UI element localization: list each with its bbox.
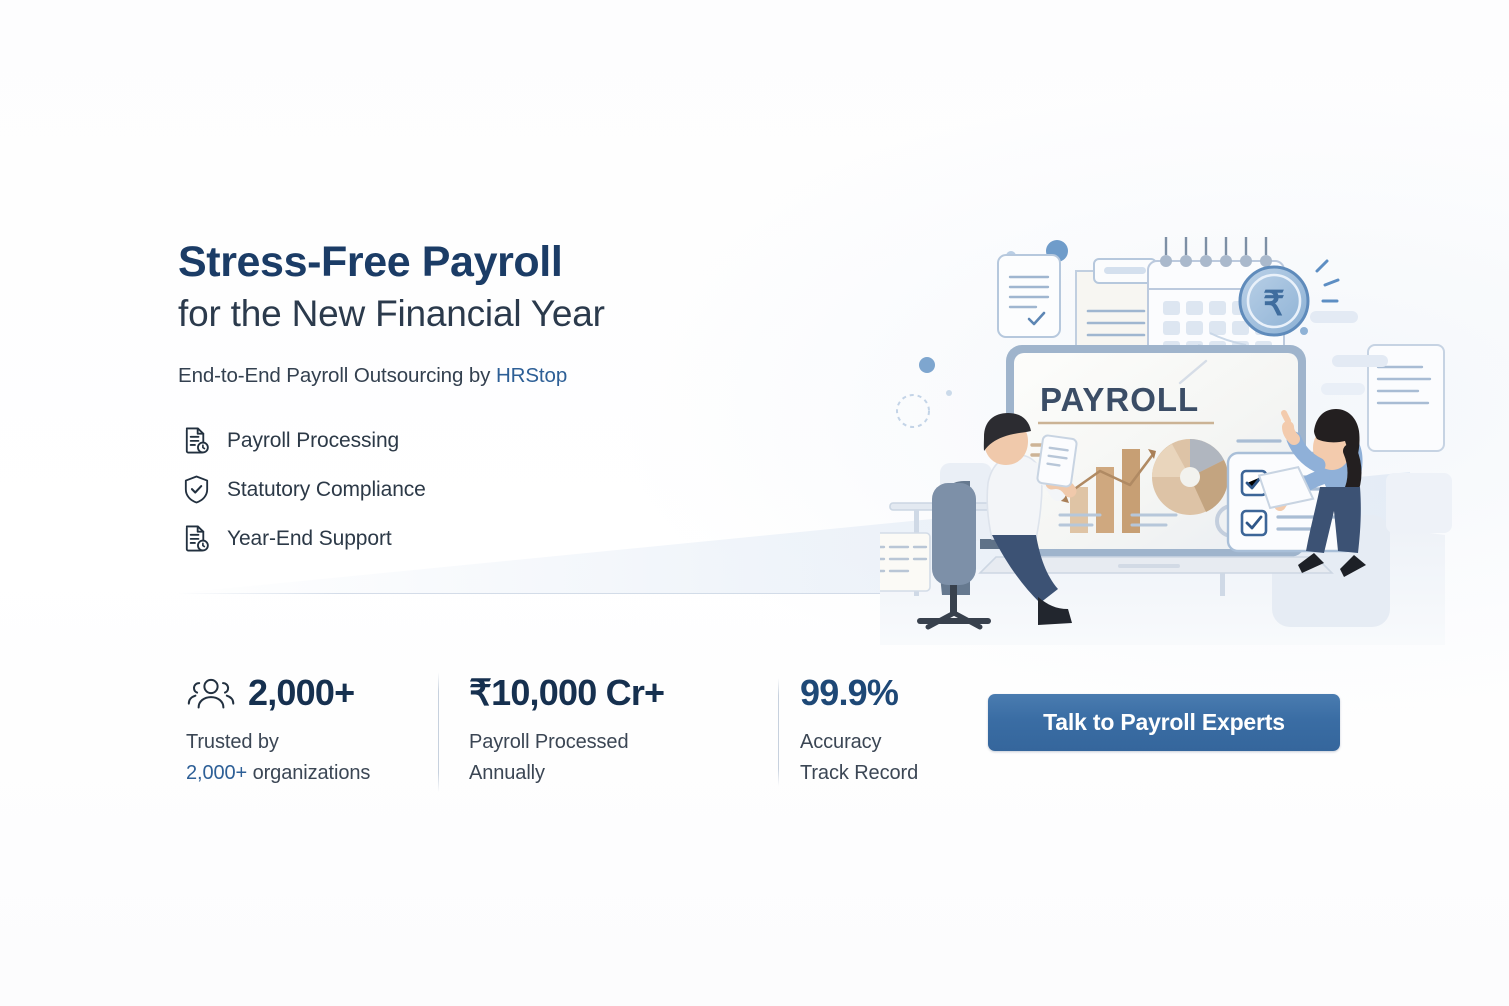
stat-label: Accuracy Track Record — [800, 727, 1020, 789]
hero-tagline: End-to-End Payroll Outsourcing by HRStop — [178, 364, 878, 388]
stat-value-row: 2,000+ — [186, 668, 438, 718]
document-clock-icon — [180, 522, 213, 555]
stat-trusted-by: 2,000+ Trusted by 2,000+ organizations — [186, 668, 438, 789]
document-clock-icon — [180, 424, 213, 457]
stats-row: 2,000+ Trusted by 2,000+ organizations ₹… — [186, 668, 1020, 792]
stat-label-highlight: 2,000+ — [186, 762, 247, 784]
hero-copy: Stress-Free Payroll for the New Financia… — [178, 238, 878, 388]
pie-chart — [1152, 439, 1228, 515]
document-check-card — [998, 255, 1060, 337]
coin-motion-lines — [1317, 261, 1338, 301]
feature-item-statutory-compliance: Statutory Compliance — [180, 473, 426, 506]
stat-value: 2,000+ — [248, 675, 354, 711]
stat-value: ₹10,000 Cr+ — [469, 675, 664, 711]
paper-stack — [880, 533, 930, 591]
calendar-spiral — [1166, 237, 1266, 255]
stat-value: 99.9% — [800, 675, 898, 711]
stat-label: Payroll Processed Annually — [469, 727, 778, 789]
stat-payroll-processed: ₹10,000 Cr+ Payroll Processed Annually — [439, 668, 778, 789]
chair-post — [950, 585, 957, 613]
page-title: Stress-Free Payroll — [178, 238, 878, 286]
feature-label: Year-End Support — [227, 527, 392, 551]
stat-label-line2: Annually — [469, 762, 545, 784]
shield-check-icon — [180, 473, 213, 506]
users-group-icon — [186, 675, 236, 711]
payroll-illustration: ₹ PAYROLL — [880, 215, 1460, 645]
feature-list: Payroll Processing Statutory Compliance — [180, 424, 426, 555]
decor-dot — [946, 390, 952, 396]
brand-name: HRStop — [496, 364, 567, 387]
decor-dot — [919, 357, 935, 373]
stat-label-line2: organizations — [247, 762, 370, 784]
talk-to-payroll-experts-button[interactable]: Talk to Payroll Experts — [988, 694, 1340, 751]
stat-label-line1: Accuracy — [800, 731, 881, 753]
feature-label: Payroll Processing — [227, 429, 399, 453]
feature-item-year-end-support: Year-End Support — [180, 522, 426, 555]
stat-value-row: ₹10,000 Cr+ — [469, 668, 778, 718]
decor-dot — [1300, 327, 1308, 335]
svg-text:₹: ₹ — [1263, 285, 1285, 323]
stat-label-line1: Payroll Processed — [469, 731, 628, 753]
tablet — [1037, 435, 1077, 487]
stat-accuracy: 99.9% Accuracy Track Record — [779, 668, 1020, 789]
stat-value-row: 99.9% — [800, 668, 1020, 718]
decor-ring — [897, 395, 929, 427]
stat-label-line2: Track Record — [800, 762, 918, 784]
screen-title: PAYROLL — [1040, 381, 1199, 418]
feature-item-payroll-processing: Payroll Processing — [180, 424, 426, 457]
feature-label: Statutory Compliance — [227, 478, 426, 502]
woman-hand-pointing — [1288, 427, 1294, 439]
stat-label-line1: Trusted by — [186, 731, 279, 753]
tagline-text: End-to-End Payroll Outsourcing by — [178, 364, 496, 387]
hero-page: Stress-Free Payroll for the New Financia… — [0, 0, 1509, 1006]
stat-label: Trusted by 2,000+ organizations — [186, 727, 438, 789]
page-subtitle: for the New Financial Year — [178, 293, 878, 336]
